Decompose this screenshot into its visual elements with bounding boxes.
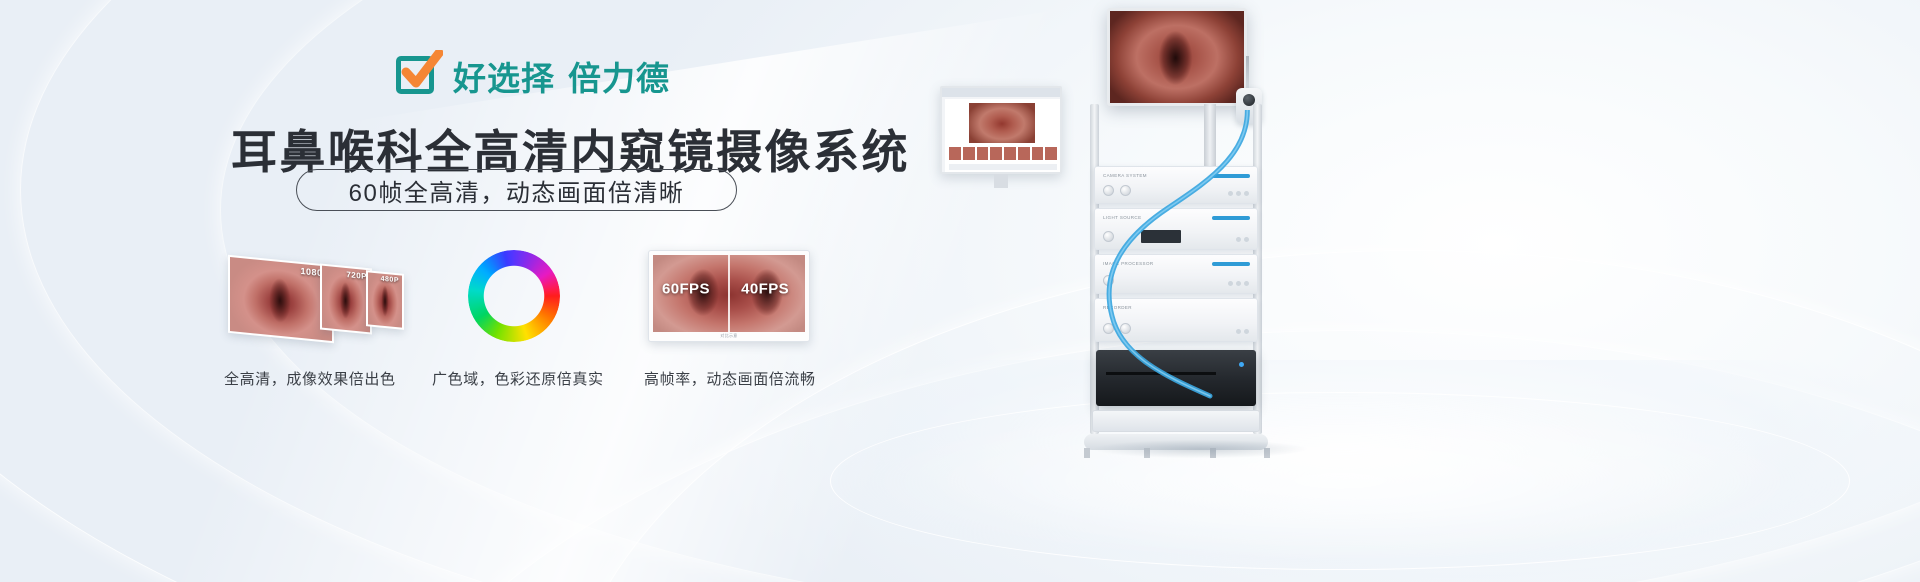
main-display-monitor (1107, 8, 1247, 106)
cart-unit-label-4: RECORDER (1103, 305, 1249, 310)
workstation-monitor (940, 86, 1062, 174)
left-content-column: 好选择倍力德 耳鼻喉科全高清内窥镜摄像系统 60帧全高清，动态画面倍清晰 108… (0, 0, 900, 582)
feature-full-hd: 1080P 720P 480P 全高清，成像效果倍出色 (228, 246, 406, 356)
resolution-panel-480p: 480P (366, 270, 404, 330)
cart-unit-light-source: LIGHT SOURCE (1094, 208, 1258, 250)
fps-comparison-monitor: 60FPS 40FPS 对比示意 (648, 250, 810, 342)
resolution-panel-1080p: 1080P (228, 255, 334, 343)
workstation-stand (994, 174, 1008, 188)
endoscopy-tower-image: CAMERA SYSTEM LIGHT SOURCE IMAGE PROCESS… (940, 0, 1920, 582)
brand-slogan-row: 好选择倍力德 (396, 52, 670, 100)
feature-caption-full-hd: 全高清，成像效果倍出色 (224, 368, 396, 389)
subtitle-badge: 60帧全高清，动态画面倍清晰 (296, 169, 737, 211)
brand-slogan: 好选择倍力德 (453, 52, 670, 100)
fps-label-right: 40FPS (741, 280, 789, 297)
monitor-footnote: 对比示意 (649, 333, 809, 339)
cart-frame: CAMERA SYSTEM LIGHT SOURCE IMAGE PROCESS… (1090, 104, 1262, 464)
cart-unit-image-processor: IMAGE PROCESSOR (1094, 254, 1258, 294)
fps-label-left: 60FPS (662, 280, 710, 297)
cart-unit-camera-system: CAMERA SYSTEM (1094, 166, 1258, 204)
endoscope-rod (1246, 56, 1249, 90)
slogan-secondary: 倍力德 (568, 60, 670, 97)
printer-unit (1096, 350, 1256, 406)
resolution-panel-720p: 720P (320, 263, 372, 334)
cart-ground-shadow (1050, 436, 1350, 462)
feature-wide-color-gamut: 广色域，色彩还原倍真实 (444, 246, 576, 356)
feature-high-frame-rate: 60FPS 40FPS 对比示意 高帧率，动态画面倍流畅 (648, 246, 818, 356)
color-wheel-icon (468, 250, 560, 342)
slogan-primary: 好选择 (453, 60, 555, 97)
subtitle-badge-text: 60帧全高清，动态画面倍清晰 (349, 173, 685, 208)
checkbox-check-icon (396, 54, 440, 98)
feature-caption-wide-color-gamut: 广色域，色彩还原倍真实 (432, 368, 604, 389)
feature-caption-high-frame-rate: 高帧率，动态画面倍流畅 (644, 368, 816, 389)
cart-unit-recorder: RECORDER (1094, 298, 1258, 342)
resolution-label-720p: 720P (346, 270, 367, 281)
cart-base-tray (1092, 410, 1260, 432)
